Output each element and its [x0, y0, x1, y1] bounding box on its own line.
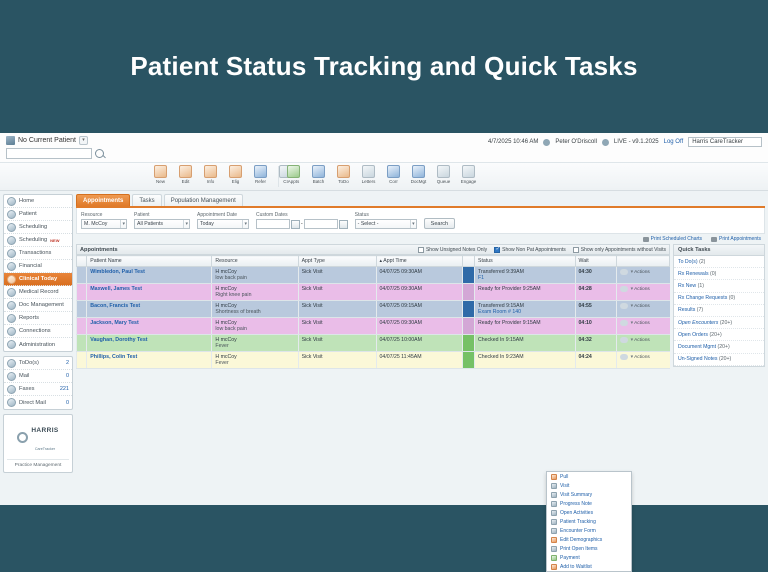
sidebar-item-reports[interactable]: Reports	[4, 312, 72, 325]
toolbar-button-label: Queue	[437, 179, 451, 184]
document-management-icon	[412, 165, 425, 178]
medical-record-icon	[7, 288, 16, 297]
row-actions-link[interactable]: Actions	[631, 355, 650, 360]
quick-task-count: (7)	[697, 307, 703, 313]
todo-icon	[7, 359, 16, 368]
patient-link[interactable]: Maxwell, James Test	[90, 286, 142, 292]
cell-patient-name[interactable]: Vaughan, Dorothy Test	[87, 335, 212, 352]
cell-status-chip	[462, 318, 474, 335]
sidebar-item-label: Medical Record	[19, 289, 59, 295]
appt-date-select[interactable]: Today	[197, 219, 249, 229]
cell-actions[interactable]: Actions	[616, 352, 669, 369]
cell-wait: 04:30	[575, 267, 616, 284]
column-header-resource[interactable]: Resource	[212, 256, 298, 267]
status-text: Ready for Provider 9:15AM	[478, 320, 541, 326]
sidebar-counter-value: 2	[66, 360, 69, 366]
quick-task-un-signed-notes[interactable]: Un-Signed Notes (20+)	[674, 354, 764, 366]
patient-link[interactable]: Jackson, Mary Test	[90, 320, 138, 326]
weather-icon	[620, 320, 628, 326]
sidebar-item-label: Home	[19, 198, 34, 204]
cell-resource: H mcCoyShortness of breath	[212, 301, 298, 318]
search-icon[interactable]	[95, 149, 104, 158]
menu-item-pull[interactable]: Pull	[547, 472, 631, 481]
status-select[interactable]: - Select -	[355, 219, 417, 229]
sidebar-item-label: Patient	[19, 211, 37, 217]
calendar-icon[interactable]	[339, 220, 348, 229]
quick-task-label: Un-Signed Notes	[678, 356, 718, 362]
sidebar-item-label: Administration	[19, 342, 55, 348]
toolbar-button-letters[interactable]: Letters	[358, 165, 379, 184]
toolbar-button-label: Batch	[313, 179, 325, 184]
mail-icon	[7, 372, 16, 381]
cell-appt-type: Sick Visit	[298, 301, 376, 318]
checkbox-box	[573, 247, 579, 253]
quick-task-count: (20+)	[709, 332, 721, 338]
toolbar-button-label: Elig	[232, 179, 240, 184]
visit-summary-icon	[551, 492, 557, 498]
sidebar-item-label: Financial	[19, 263, 42, 269]
sidebar-counter-value: 0	[66, 373, 69, 379]
menu-item-label: Encounter Form	[560, 528, 596, 534]
quick-task-document-mgmt[interactable]: Document Mgmt (20+)	[674, 341, 764, 353]
info-icon	[204, 165, 217, 178]
patient-select[interactable]: All Patients	[134, 219, 190, 229]
row-selector[interactable]	[77, 284, 87, 301]
column-header-appt-time[interactable]: ▴ Appt Time	[376, 256, 462, 267]
correspondence-icon	[387, 165, 400, 178]
quick-tasks-title: Quick Tasks	[674, 245, 764, 256]
cell-actions[interactable]: Actions	[616, 284, 669, 301]
sidebar-item-label: Transactions	[19, 250, 51, 256]
quick-task-count: (20+)	[720, 320, 732, 326]
cell-status: Transferred 9:39AMF1	[475, 267, 576, 284]
toolbar-button-queue[interactable]: Queue	[433, 165, 454, 184]
quick-task-rx-new[interactable]: Rx New (1)	[674, 280, 764, 292]
print-link-label: Print Scheduled Charts	[651, 236, 702, 242]
toolbar-button-label: Engage	[461, 179, 477, 184]
quick-task-count: (0)	[729, 295, 735, 301]
menu-item-visit-summary[interactable]: Visit Summary	[547, 490, 631, 499]
table-row[interactable]: Bacon, Francis TestH mcCoyShortness of b…	[77, 301, 670, 318]
status-text: Checked In 9:23AM	[478, 354, 524, 360]
table-row[interactable]: Maxwell, James TestH mcCoyRight knee pai…	[77, 284, 670, 301]
sidebar-item-scheduling[interactable]: SchedulingNEW	[4, 234, 72, 247]
quick-task-results[interactable]: Results (7)	[674, 305, 764, 317]
slide-title-band: Patient Status Tracking and Quick Tasks	[0, 0, 768, 133]
sidebar-item-home[interactable]: Home	[4, 195, 72, 208]
status-text: Checked In 9:15AM	[478, 337, 524, 343]
sidebar-counter-value: 0	[66, 400, 69, 406]
row-selector[interactable]	[77, 318, 87, 335]
tab-appointments[interactable]: Appointments	[76, 194, 130, 206]
cell-appt-type: Sick Visit	[298, 335, 376, 352]
appointments-grid: Appointments Show Unsigned Notes OnlySho…	[76, 244, 670, 505]
brand-footer: Practice Management	[7, 459, 69, 468]
checkbox-box	[418, 247, 424, 253]
visit-icon	[551, 483, 557, 489]
cell-appt-time: 04/07/25 09:15AM	[376, 301, 462, 318]
patient-link[interactable]: Vaughan, Dorothy Test	[90, 337, 147, 343]
chevron-down-icon[interactable]: ▾	[79, 136, 88, 145]
toolbar-button-appts[interactable]: Appts	[283, 165, 304, 184]
sidebar-nav: HomePatientSchedulingSchedulingNEWTransa…	[3, 194, 73, 352]
sidebar-counter-label: Faxes	[19, 386, 35, 392]
weather-icon	[620, 337, 628, 343]
calendar-icon[interactable]	[291, 220, 300, 229]
cell-status: Transferred 9:15AMExam Room # 140	[475, 301, 576, 318]
print-link-label: Print Appointments	[719, 236, 761, 242]
menu-item-encounter-form[interactable]: Encounter Form	[547, 526, 631, 535]
checkbox-box	[494, 247, 500, 253]
toolbar-button-label: ToDo	[338, 179, 349, 184]
tab-tasks[interactable]: Tasks	[132, 194, 161, 206]
quick-task-count: (20+)	[718, 344, 730, 350]
resource-select[interactable]: M. McCoy	[81, 219, 127, 229]
menu-item-patient-tracking[interactable]: Patient Tracking	[547, 517, 631, 526]
appointment-reason: low back pain	[215, 326, 246, 332]
menu-item-label: Edit Demographics	[560, 537, 602, 543]
menu-item-label: Visit Summary	[560, 492, 592, 498]
open-activities-icon	[551, 510, 557, 516]
patient-icon	[7, 210, 16, 219]
sidebar-item-administration[interactable]: Administration	[4, 338, 72, 351]
search-button[interactable]: Search	[424, 218, 455, 229]
sidebar-item-doc-management[interactable]: Doc Management	[4, 299, 72, 312]
table-body: Wimbledon, Paul TestH mcCoylow back pain…	[77, 267, 670, 369]
cell-status-chip	[462, 335, 474, 352]
toolbar-button-batch[interactable]: Batch	[308, 165, 329, 184]
printer-icon	[711, 237, 717, 242]
cell-patient-name[interactable]: Wimbledon, Paul Test	[87, 267, 212, 284]
cell-appt-type: Sick Visit	[298, 318, 376, 335]
cell-appt-time: 04/07/25 11:45AM	[376, 352, 462, 369]
menu-item-progress-note[interactable]: Progress Note	[547, 499, 631, 508]
globe-icon	[602, 139, 609, 146]
quick-task-label: Rx Change Requests	[678, 295, 727, 301]
administration-icon	[7, 340, 16, 349]
encounter-form-icon	[551, 528, 557, 534]
session-info: 4/7/2025 10:46 AM Peter O'Driscoll LIVE …	[488, 137, 762, 147]
cell-actions[interactable]: Actions	[616, 318, 669, 335]
row-actions-link[interactable]: Actions	[631, 270, 650, 275]
cell-status: Checked In 9:15AM	[475, 335, 576, 352]
sidebar-counter-label: Mail	[19, 373, 29, 379]
session-user: Peter O'Driscoll	[555, 139, 597, 145]
cell-wait: 04:24	[575, 352, 616, 369]
sidebar-counter-mail[interactable]: Mail0	[4, 370, 72, 383]
filter-appt-date-label: Appointment Date	[197, 212, 249, 218]
cell-status-chip	[462, 267, 474, 284]
queue-icon	[437, 165, 450, 178]
sidebar-counter-direct-mail[interactable]: Direct Mail0	[4, 396, 72, 409]
cell-status-chip	[462, 301, 474, 318]
add-to-waitlist-icon	[551, 564, 557, 570]
column-header-patient-name[interactable]: Patient Name	[87, 256, 212, 267]
menu-item-payment[interactable]: Payment	[547, 553, 631, 562]
clinical-today-icon	[7, 275, 16, 284]
tab-population-management[interactable]: Population Management	[164, 194, 243, 206]
link-print-scheduled-charts[interactable]: Print Scheduled Charts	[643, 236, 702, 242]
quick-task-label: Rx Renewals	[678, 271, 709, 277]
menu-item-label: Print Open Items	[560, 546, 598, 552]
cell-patient-name[interactable]: Maxwell, James Test	[87, 284, 212, 301]
slide-root: Patient Status Tracking and Quick Tasks …	[0, 0, 768, 505]
application-topbar: No Current Patient ▾ 4/7/2025 10:46 AM P…	[0, 133, 768, 163]
cell-resource: H mcCoyRight knee pain	[212, 284, 298, 301]
patient-link[interactable]: Bacon, Francis Test	[90, 303, 140, 309]
cell-actions[interactable]: Actions	[616, 335, 669, 352]
cell-patient-name[interactable]: Phillips, Colin Test	[87, 352, 212, 369]
sidebar-item-medical-record[interactable]: Medical Record	[4, 286, 72, 299]
weather-icon	[620, 286, 628, 292]
table-row[interactable]: Vaughan, Dorothy TestH mcCoyFeverSick Vi…	[77, 335, 670, 352]
quick-task-rx-renewals[interactable]: Rx Renewals (0)	[674, 268, 764, 280]
quick-task-open-encounters[interactable]: Open Encounters (20+)	[674, 317, 764, 329]
checkbox-label: Show only Appointments without Visits	[581, 247, 666, 253]
sidebar-item-label: Reports	[19, 315, 39, 321]
sidebar: HomePatientSchedulingSchedulingNEWTransa…	[0, 191, 76, 505]
menu-item-edit-demographics[interactable]: Edit Demographics	[547, 535, 631, 544]
row-actions-link[interactable]: Actions	[631, 338, 650, 343]
quick-task-count: (0)	[710, 271, 716, 277]
sidebar-counter-label: ToDo(s)	[19, 360, 39, 366]
table-row[interactable]: Phillips, Colin TestH mcCoyFeverSick Vis…	[77, 352, 670, 369]
patient-link[interactable]: Wimbledon, Paul Test	[90, 269, 145, 275]
edit-icon	[179, 165, 192, 178]
patient-search-group	[6, 148, 104, 159]
toolbar-button-todo[interactable]: ToDo	[333, 165, 354, 184]
sidebar-item-label: Scheduling	[19, 224, 47, 230]
menu-item-label: Add to Waitlist	[560, 564, 592, 570]
row-actions-context-menu[interactable]: PullVisitVisit SummaryProgress NoteOpen …	[546, 471, 632, 572]
sidebar-counter-label: Direct Mail	[19, 400, 46, 406]
sidebar-item-scheduling[interactable]: Scheduling	[4, 221, 72, 234]
work-area: Appointments Show Unsigned Notes OnlySho…	[76, 244, 765, 505]
quick-task-label: Results	[678, 307, 695, 313]
toolbar-button-engage[interactable]: Engage	[458, 165, 479, 184]
cell-resource: H mcCoylow back pain	[212, 267, 298, 284]
cell-wait: 04:55	[575, 301, 616, 318]
cell-status-chip	[462, 352, 474, 369]
column-header-flag	[462, 256, 474, 267]
cell-appt-type: Sick Visit	[298, 267, 376, 284]
main-content: AppointmentsTasksPopulation Management R…	[76, 191, 768, 505]
menu-item-visit[interactable]: Visit	[547, 481, 631, 490]
patient-link[interactable]: Phillips, Colin Test	[90, 354, 137, 360]
scheduling-new-icon	[7, 236, 16, 245]
weather-icon	[620, 354, 628, 360]
quick-task-label: Open Encounters	[678, 320, 718, 326]
progress-note-icon	[551, 501, 557, 507]
quick-task-label: To Do(s)	[678, 259, 698, 265]
toolbar-button-elig[interactable]: Elig	[225, 165, 246, 184]
quick-task-to-do-s-[interactable]: To Do(s) (2)	[674, 256, 764, 268]
cell-resource: H mcCoyFever	[212, 335, 298, 352]
status-room: F1	[478, 275, 484, 281]
quick-tasks-list: To Do(s) (2)Rx Renewals (0)Rx New (1)Rx …	[674, 256, 764, 366]
gear-icon	[17, 432, 28, 443]
checkbox-show-unsigned-notes-only[interactable]: Show Unsigned Notes Only	[418, 247, 487, 253]
company-selector[interactable]: Harris CareTracker	[688, 137, 762, 147]
checkbox-label: Show Unsigned Notes Only	[426, 247, 487, 253]
grid-header-bar: Appointments Show Unsigned Notes OnlySho…	[76, 244, 670, 255]
toolbar-button-label: DocMgt	[411, 179, 427, 184]
column-header-actions	[616, 256, 669, 267]
row-selector[interactable]	[77, 335, 87, 352]
filter-resource-label: Resource	[81, 212, 127, 218]
quick-tasks-panel: Quick Tasks To Do(s) (2)Rx Renewals (0)R…	[673, 244, 765, 367]
referral-icon	[254, 165, 267, 178]
cell-patient-name[interactable]: Jackson, Mary Test	[87, 318, 212, 335]
weather-icon	[620, 269, 628, 275]
scheduling-icon	[7, 223, 16, 232]
quick-task-label: Document Mgmt	[678, 344, 716, 350]
toolbar-button-info[interactable]: Info	[200, 165, 221, 184]
toolbar-button-refer[interactable]: Refer	[250, 165, 271, 184]
sidebar-item-badge: NEW	[50, 238, 59, 243]
appointments-table: Patient NameResourceAppt Type▴ Appt Time…	[76, 255, 670, 369]
toolbar-button-label: Edit	[182, 179, 190, 184]
row-actions-link[interactable]: Actions	[631, 304, 650, 309]
current-patient-label: No Current Patient	[18, 137, 76, 144]
tab-bar: AppointmentsTasksPopulation Management	[76, 194, 765, 208]
row-selector[interactable]	[77, 352, 87, 369]
edit-demographics-icon	[551, 537, 557, 543]
filter-custom-dates-label: Custom Dates	[256, 212, 348, 218]
sidebar-item-label: Clinical Today	[19, 276, 57, 282]
user-icon	[543, 139, 550, 146]
print-links: Print Scheduled ChartsPrint Appointments	[76, 234, 765, 244]
table-row[interactable]: Jackson, Mary TestH mcCoylow back painSi…	[77, 318, 670, 335]
appointments-icon	[287, 165, 300, 178]
status-text: Ready for Provider 9:25AM	[478, 286, 541, 292]
connections-icon	[7, 327, 16, 336]
current-patient-indicator[interactable]: No Current Patient ▾	[6, 136, 88, 145]
column-header-appt-type[interactable]: Appt Type	[298, 256, 376, 267]
toolbar-button-docmgt[interactable]: DocMgt	[408, 165, 429, 184]
todo-icon	[337, 165, 350, 178]
sidebar-item-financial[interactable]: Financial	[4, 260, 72, 273]
quick-task-label: Open Orders	[678, 332, 708, 338]
menu-item-print-open-items[interactable]: Print Open Items	[547, 544, 631, 553]
quick-task-count: (20+)	[719, 356, 731, 362]
status-room: Exam Room # 140	[478, 309, 521, 315]
custom-date-to-input[interactable]	[304, 219, 338, 229]
letters-icon	[362, 165, 375, 178]
cell-appt-type: Sick Visit	[298, 284, 376, 301]
printer-icon	[643, 237, 649, 242]
checkbox-show-only-appointments-without-visits[interactable]: Show only Appointments without Visits	[573, 247, 666, 253]
quick-task-label: Rx New	[678, 283, 696, 289]
sidebar-item-clinical-today[interactable]: Clinical Today	[4, 273, 72, 286]
link-print-appointments[interactable]: Print Appointments	[711, 236, 761, 242]
grid-filter-checkboxes: Show Unsigned Notes OnlyShow Non Pat App…	[418, 247, 666, 253]
sidebar-item-connections[interactable]: Connections	[4, 325, 72, 338]
row-selector[interactable]	[77, 267, 87, 284]
table-header-row: Patient NameResourceAppt Type▴ Appt Time…	[77, 256, 670, 267]
payment-icon	[551, 555, 557, 561]
menu-item-label: Progress Note	[560, 501, 592, 507]
direct-mail-icon	[7, 398, 16, 407]
custom-date-range: -	[256, 219, 348, 229]
filter-patient: Patient All Patients	[134, 212, 190, 229]
appointment-reason: Fever	[215, 360, 228, 366]
toolbar-button-corr[interactable]: Corr	[383, 165, 404, 184]
table-row[interactable]: Wimbledon, Paul TestH mcCoylow back pain…	[77, 267, 670, 284]
appointment-reason: Fever	[215, 343, 228, 349]
toolbar-button-label: Refer	[255, 179, 266, 184]
sidebar-item-transactions[interactable]: Transactions	[4, 247, 72, 260]
cell-status: Checked In 9:23AM	[475, 352, 576, 369]
toolbar-button-label: Letters	[362, 179, 376, 184]
cell-appt-time: 04/07/25 09:30AM	[376, 267, 462, 284]
weather-icon	[620, 303, 628, 309]
toolbar-button-new[interactable]: New	[150, 165, 171, 184]
financial-icon	[7, 262, 16, 271]
checkbox-label: Show Non Pat Appointments	[502, 247, 566, 253]
appointment-reason: low back pain	[215, 275, 246, 281]
page-title: Patient Status Tracking and Quick Tasks	[130, 51, 637, 82]
sidebar-item-patient[interactable]: Patient	[4, 208, 72, 221]
row-actions-link[interactable]: Actions	[631, 287, 650, 292]
application-body: HomePatientSchedulingSchedulingNEWTransa…	[0, 191, 768, 505]
column-header-status[interactable]: Status	[475, 256, 576, 267]
cell-resource: H mcCoylow back pain	[212, 318, 298, 335]
appointment-reason: Shortness of breath	[215, 309, 260, 315]
eligibility-icon	[229, 165, 242, 178]
cell-actions[interactable]: Actions	[616, 267, 669, 284]
transactions-icon	[7, 249, 16, 258]
brand-row: HARRIS CareTracker	[7, 419, 69, 455]
grid-title: Appointments	[80, 247, 118, 253]
quick-task-open-orders[interactable]: Open Orders (20+)	[674, 329, 764, 341]
toolbar-button-label: Info	[207, 179, 215, 184]
menu-item-add-to-waitlist[interactable]: Add to Waitlist	[547, 562, 631, 571]
cell-status: Ready for Provider 9:25AM	[475, 284, 576, 301]
checkbox-show-non-pat-appointments[interactable]: Show Non Pat Appointments	[494, 247, 566, 253]
toolbar-ribbon: NewEditInfoEligReferCI ApptsBatchToDoLet…	[0, 163, 768, 191]
column-header-wait[interactable]: Wait	[575, 256, 616, 267]
row-selector[interactable]	[77, 301, 87, 318]
menu-item-open-activities[interactable]: Open Activities	[547, 508, 631, 517]
toolbar-button-label: Corr	[389, 179, 398, 184]
reports-icon	[7, 314, 16, 323]
filter-custom-dates: Custom Dates -	[256, 212, 348, 229]
batch-icon	[312, 165, 325, 178]
logoff-link[interactable]: Log Off	[664, 139, 684, 145]
menu-item-label: Visit	[560, 483, 569, 489]
cell-actions[interactable]: Actions	[616, 301, 669, 318]
menu-item-label: Patient Tracking	[560, 519, 596, 525]
doc-management-icon	[7, 301, 16, 310]
cell-patient-name[interactable]: Bacon, Francis Test	[87, 301, 212, 318]
patient-search-input[interactable]	[6, 148, 92, 159]
fax-icon	[7, 385, 16, 394]
cell-appt-time: 04/07/25 09:30AM	[376, 284, 462, 301]
sidebar-counter-faxes[interactable]: Faxes221	[4, 383, 72, 396]
quick-task-rx-change-requests[interactable]: Rx Change Requests (0)	[674, 293, 764, 305]
row-actions-link[interactable]: Actions	[631, 321, 650, 326]
sidebar-item-label: Scheduling	[19, 237, 47, 243]
sidebar-item-label: Connections	[19, 328, 51, 334]
toolbar-button-edit[interactable]: Edit	[175, 165, 196, 184]
toolbar-group-left: NewEditInfoEligReferCI	[150, 165, 296, 184]
session-environment: LIVE - v9.1.2025	[614, 139, 659, 145]
quick-task-count: (2)	[699, 259, 705, 265]
sidebar-counter-todo-s-[interactable]: ToDo(s)2	[4, 357, 72, 370]
custom-date-from-input[interactable]	[256, 219, 290, 229]
toolbar-divider	[278, 166, 279, 187]
